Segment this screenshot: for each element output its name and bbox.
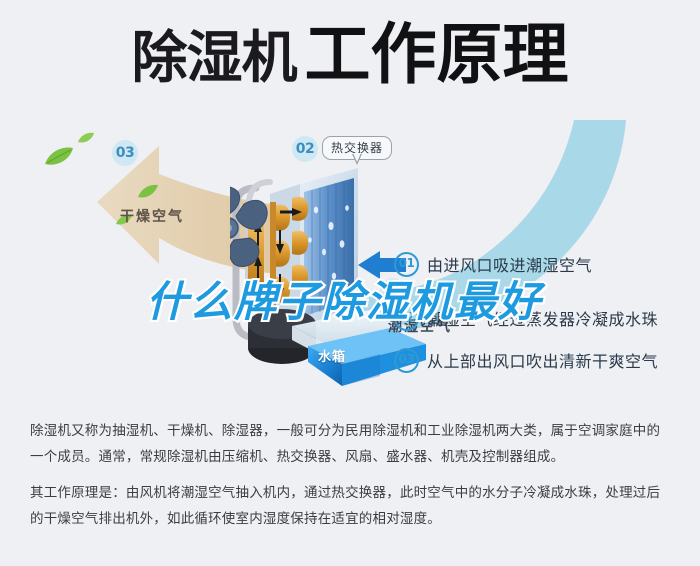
watermark-text: 什么牌子除湿机最好 xyxy=(146,268,542,329)
diagram-badge-03: 03 xyxy=(112,140,138,166)
leaf-icon xyxy=(138,184,158,199)
leaf-icon xyxy=(78,132,94,144)
list-item: 03 从上部出风口吹出清新干爽空气 xyxy=(394,344,694,376)
page-root: 除湿机工作原理 xyxy=(0,0,700,566)
step-text-03: 从上部出风口吹出清新干爽空气 xyxy=(427,348,658,372)
body-paragraph-1: 除湿机又称为抽湿机、干燥机、除湿器，一般可分为民用除湿机和工业除湿机两大类，属于… xyxy=(30,418,670,470)
page-title-part1: 除湿机 xyxy=(132,26,297,91)
leaf-icon xyxy=(44,146,74,168)
callout-tail-icon xyxy=(352,154,362,165)
step-badge-03: 03 xyxy=(394,348,419,373)
page-title-part2: 工作原理 xyxy=(305,16,569,93)
page-title: 除湿机工作原理 xyxy=(0,22,700,88)
dry-air-label: 干燥空气 xyxy=(120,206,184,226)
diagram-badge-02: 02 xyxy=(292,136,318,162)
water-tank-label: 水箱 xyxy=(318,346,346,365)
body-paragraph-2: 其工作原理是：由风机将潮湿空气抽入机内，通过热交换器，此时空气中的水分子冷凝成水… xyxy=(30,480,670,532)
